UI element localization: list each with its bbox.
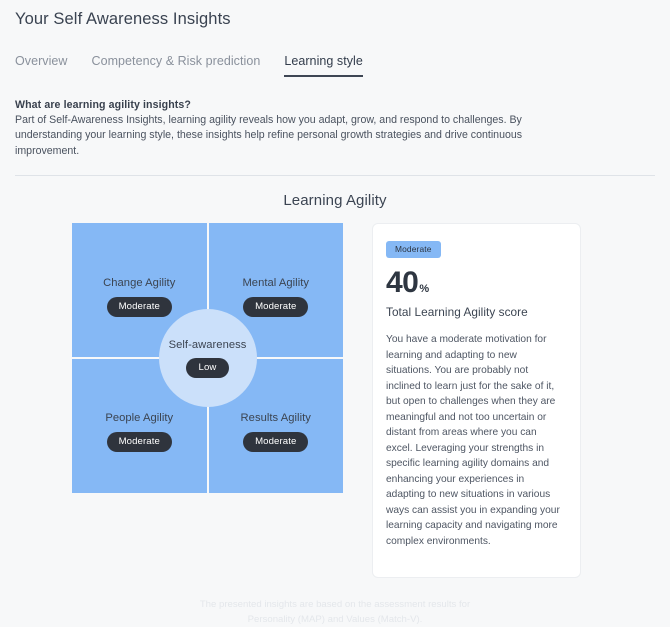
score-unit: % xyxy=(419,283,429,295)
tab-bar: Overview Competency & Risk prediction Le… xyxy=(15,54,656,77)
total-score-card: Moderate 40 % Total Learning Agility sco… xyxy=(372,223,581,578)
score-value: 40 xyxy=(386,268,418,298)
tab-learning-style[interactable]: Learning style xyxy=(284,54,363,77)
section-divider xyxy=(15,175,655,176)
self-awareness-level: Low xyxy=(186,358,230,378)
page-title: Your Self Awareness Insights xyxy=(15,0,656,29)
quadrant-label-change-agility: Change Agility xyxy=(103,277,175,289)
score-description: You have a moderate motivation for learn… xyxy=(386,332,565,549)
self-awareness-circle[interactable]: Self-awareness Low xyxy=(159,309,257,407)
insights-content: Change Agility Moderate Mental Agility M… xyxy=(14,223,656,578)
score-row: 40 % xyxy=(386,268,565,298)
quadrant-level-change-agility: Moderate xyxy=(107,297,172,317)
quadrant-label-results-agility: Results Agility xyxy=(241,412,311,424)
tab-competency-risk-prediction[interactable]: Competency & Risk prediction xyxy=(92,54,261,77)
intro-heading: What are learning agility insights? xyxy=(15,99,575,111)
learning-agility-quadrant-chart: Change Agility Moderate Mental Agility M… xyxy=(72,223,343,493)
self-awareness-label: Self-awareness xyxy=(169,339,247,351)
quadrant-label-people-agility: People Agility xyxy=(105,412,173,424)
tab-overview[interactable]: Overview xyxy=(15,54,68,77)
quadrant-level-mental-agility: Moderate xyxy=(243,297,308,317)
intro-body: Part of Self-Awareness Insights, learnin… xyxy=(15,113,575,159)
quadrant-label-mental-agility: Mental Agility xyxy=(242,277,309,289)
footer-note: The presented insights are based on the … xyxy=(14,598,656,627)
insights-page: Your Self Awareness Insights Overview Co… xyxy=(0,0,670,546)
status-badge: Moderate xyxy=(386,241,441,258)
score-caption: Total Learning Agility score xyxy=(386,305,565,319)
section-title: Learning Agility xyxy=(14,192,656,209)
quadrant-level-results-agility: Moderate xyxy=(243,432,308,452)
intro-block: What are learning agility insights? Part… xyxy=(15,99,575,159)
quadrant-level-people-agility: Moderate xyxy=(107,432,172,452)
